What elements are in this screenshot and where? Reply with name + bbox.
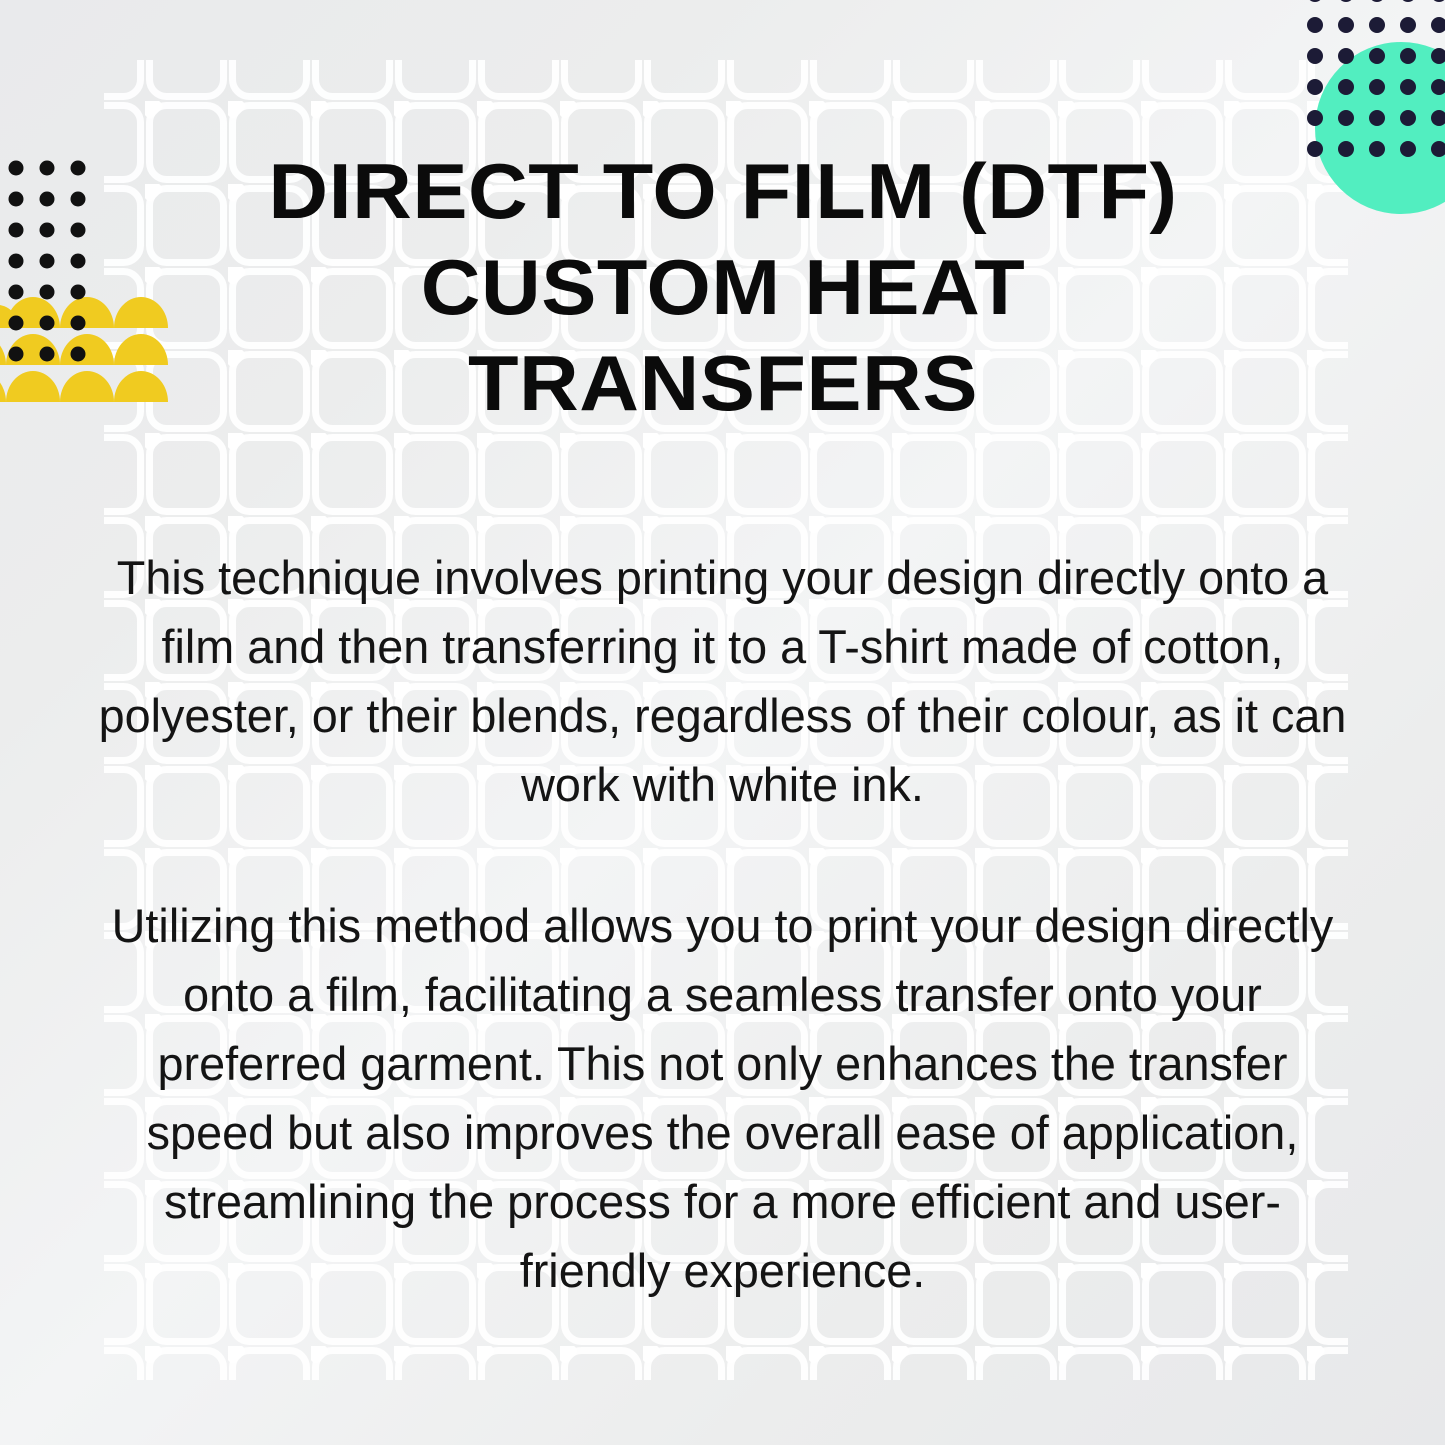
paragraph-1: This technique involves printing your de…: [98, 543, 1347, 819]
poster-content: DIRECT TO FILM (DTF) CUSTOM HEAT TRANSFE…: [0, 0, 1445, 1445]
page-title: DIRECT TO FILM (DTF) CUSTOM HEAT TRANSFE…: [182, 143, 1263, 431]
body-copy: This technique involves printing your de…: [95, 543, 1350, 1305]
paragraph-2: Utilizing this method allows you to prin…: [98, 891, 1347, 1305]
poster-canvas: DIRECT TO FILM (DTF) CUSTOM HEAT TRANSFE…: [0, 0, 1445, 1445]
